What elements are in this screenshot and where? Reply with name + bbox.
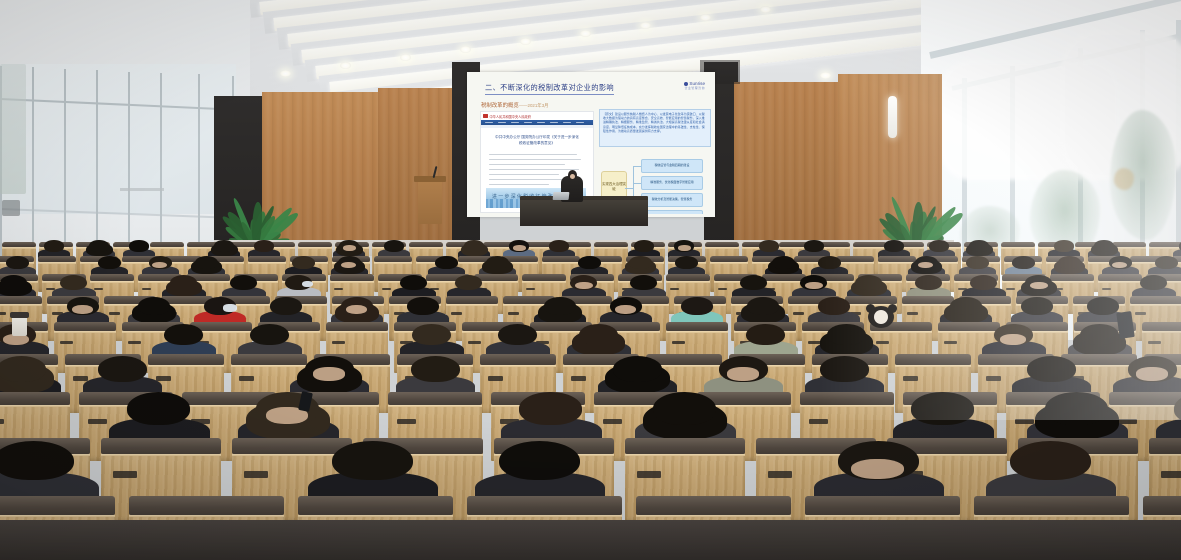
- logo-mark-icon: [684, 82, 688, 86]
- seat-number-tag: [468, 341, 480, 345]
- attendee-head: [0, 275, 27, 290]
- seat-number-tag: [768, 471, 792, 477]
- attendee-head: [435, 256, 458, 269]
- seat-number-tag: [670, 288, 679, 291]
- attendee-head: [1054, 240, 1074, 251]
- attendee-head: [634, 240, 654, 251]
- seat-number-tag: [88, 419, 107, 424]
- seat-cushion-top: [480, 354, 556, 365]
- seat-edge-highlight: [1050, 281, 1094, 283]
- attendee-neck: [1136, 367, 1168, 380]
- attendee-head: [675, 256, 698, 269]
- attendee-head: [578, 256, 601, 269]
- seat-number-tag: [0, 312, 6, 315]
- seat-cushion-top: [330, 274, 374, 281]
- logo-subtitle: 企业管理咨询: [684, 87, 705, 90]
- attendee-head: [549, 240, 569, 251]
- seat-edge-highlight: [666, 281, 710, 283]
- seat-number-tag: [488, 376, 503, 380]
- attendee-head: [855, 275, 882, 290]
- attendee-head: [164, 324, 204, 346]
- seat-number-tag: [603, 419, 622, 424]
- seat-cushion-top: [1149, 438, 1181, 454]
- seat-cushion-top: [90, 274, 134, 281]
- seat-edge-highlight: [480, 365, 556, 367]
- seat-number-tag: [382, 288, 391, 291]
- seat-number-tag: [156, 376, 171, 380]
- attendee-head: [950, 297, 982, 315]
- attendee-neck: [343, 245, 356, 251]
- seat-edge-highlight: [330, 281, 374, 283]
- attendee-head: [746, 324, 786, 346]
- attendee-neck: [615, 305, 636, 314]
- attendee-head: [0, 356, 46, 382]
- seat-edge-highlight: [1098, 281, 1142, 283]
- seat-number-tag: [1015, 419, 1034, 424]
- seat-cushion-top: [974, 496, 1129, 515]
- coffee-cup-lid: [10, 312, 29, 318]
- outdoor-foliage-through-glass: [0, 64, 26, 194]
- attendee-head: [653, 392, 715, 425]
- doc-body-line-6: [489, 184, 549, 185]
- seat-cushion-top: [845, 296, 897, 304]
- seat-number-tag: [109, 312, 119, 315]
- attendee-head: [498, 324, 538, 346]
- attendee-head: [0, 441, 74, 481]
- presenter-face: [570, 174, 575, 179]
- seat-cushion-top: [800, 392, 894, 405]
- attendee-head: [966, 256, 989, 269]
- seat-edge-highlight: [1149, 247, 1181, 249]
- attendee-neck: [313, 367, 345, 380]
- mindmap-node-1: 精准服务、优化税面数字智能应用: [641, 176, 703, 190]
- seat-number-tag: [718, 288, 727, 291]
- seat-cushion-top: [0, 296, 42, 304]
- seat-edge-highlight: [467, 515, 622, 517]
- attendee-head: [384, 240, 404, 251]
- ceiling-downlight-8: [760, 6, 771, 13]
- slide-subtitle-text: 税制改革的概览: [481, 103, 519, 109]
- seat-edge-highlight: [870, 331, 932, 333]
- lobby-furniture: [2, 200, 20, 216]
- attendee-head: [915, 275, 942, 290]
- auditorium-photo: 二、不断深化的税制改革对企业的影响 税制改革的概览——2021年3月 Sunri…: [0, 0, 1181, 560]
- seat-number-tag: [334, 288, 343, 291]
- attendee-neck: [1000, 334, 1026, 345]
- attendee-face-mask: [302, 281, 313, 288]
- seat-number-tag: [907, 312, 917, 315]
- seat-number-tag: [332, 341, 344, 345]
- seat-edge-highlight: [0, 515, 115, 517]
- attendee-neck: [346, 305, 367, 314]
- attendee-head: [681, 297, 713, 315]
- attendee-head: [127, 392, 189, 425]
- attendee-head: [332, 441, 413, 481]
- seat-edge-highlight: [522, 281, 566, 283]
- seat-number-tag: [397, 419, 416, 424]
- gov-doc-headline-l1: 中共中央办公厅 国务院办公厅印发《关于进一步深化: [495, 135, 579, 139]
- coffee-cup: [12, 316, 27, 336]
- seat-edge-highlight: [895, 365, 971, 367]
- attendee-head: [1012, 256, 1035, 269]
- wall-sconce-light: [888, 96, 897, 138]
- seat-cushion-top: [298, 496, 453, 515]
- seat-cushion-top: [326, 322, 388, 331]
- attendee-head: [129, 240, 149, 251]
- seat-edge-highlight: [38, 262, 76, 264]
- mindmap-node-2: 税收分析及智能决策，智慧税务: [641, 193, 703, 207]
- seat-number-tag: [793, 312, 803, 315]
- slide-logo: Sunrise 企业管理咨询: [684, 81, 705, 90]
- seat-cushion-top: [231, 354, 307, 365]
- seat-edge-highlight: [129, 515, 284, 517]
- seat-number-tag: [944, 341, 956, 345]
- attendee-head: [1155, 256, 1178, 269]
- lobby-counter: [120, 188, 164, 191]
- seat-number-tag: [142, 288, 151, 291]
- seat-number-tag: [808, 341, 820, 345]
- podium: [520, 196, 648, 226]
- slide-content: 二、不断深化的税制改革对企业的影响 税制改革的概览——2021年3月 Sunri…: [471, 75, 711, 214]
- attendee-neck: [72, 305, 93, 314]
- seat-number-tag: [451, 312, 461, 315]
- slide-callout-box: 【原文】建设以服务纳税人缴费人为中心、以发票电子化改革为突破口、以税收大数据为驱…: [599, 109, 711, 147]
- attendee-head: [544, 297, 576, 315]
- seat-cushion-top: [129, 496, 284, 515]
- gov-emblem-icon: [483, 114, 488, 118]
- attendee-head: [214, 240, 234, 251]
- seat-edge-highlight: [878, 262, 916, 264]
- seat-edge-highlight: [853, 247, 887, 249]
- seat-cushion-top: [1050, 274, 1094, 281]
- seat-edge-highlight: [101, 454, 221, 456]
- ceiling-downlight-15: [340, 62, 351, 69]
- doc-body-line-4: [489, 174, 559, 175]
- attendee-head: [1087, 297, 1119, 315]
- seat-edge-highlight: [409, 247, 443, 249]
- seat-edge-highlight: [148, 365, 224, 367]
- seat-edge-highlight: [298, 247, 332, 249]
- seat-edge-highlight: [800, 405, 894, 407]
- attendee-head: [195, 256, 218, 269]
- seat-edge-highlight: [1001, 247, 1035, 249]
- seat-edge-highlight: [150, 247, 184, 249]
- attendee-head: [929, 240, 949, 251]
- attendee-head: [969, 240, 989, 251]
- attendee-head: [1027, 356, 1076, 382]
- lectern: [418, 180, 442, 224]
- attendee-head: [411, 356, 460, 382]
- seat-number-tag: [73, 376, 88, 380]
- seat-cushion-top: [895, 354, 971, 365]
- attendee-head: [1058, 256, 1081, 269]
- seat-edge-highlight: [762, 281, 806, 283]
- seat-cushion-top: [762, 274, 806, 281]
- seat-edge-highlight: [2, 247, 36, 249]
- panda-plush-ear-right: [888, 304, 897, 313]
- attendee-head: [747, 297, 779, 315]
- mindmap-node-0: 税收征管与金税四期的建设: [641, 159, 703, 173]
- wood-panel-right-inner: [734, 82, 842, 254]
- attendee-head: [630, 275, 657, 290]
- gov-breadcrumb-strip: [481, 125, 593, 128]
- seat-number-tag: [1161, 471, 1181, 477]
- ceiling-downlight-16: [280, 70, 291, 77]
- seat-edge-highlight: [90, 281, 134, 283]
- seat-cushion-top: [1109, 392, 1181, 405]
- seat-edge-highlight: [594, 247, 628, 249]
- seat-cushion-top: [1143, 496, 1181, 515]
- seat-cushion-top: [54, 322, 116, 331]
- attendee-head: [804, 240, 824, 251]
- attendee-head: [89, 240, 109, 251]
- seat-number-tag: [1148, 341, 1160, 345]
- seat-edge-highlight: [374, 262, 412, 264]
- presenter-laptop: [553, 192, 570, 200]
- seat-edge-highlight: [1109, 405, 1181, 407]
- seat-edge-highlight: [298, 515, 453, 517]
- seat-number-tag: [571, 376, 586, 380]
- seat-cushion-top: [388, 392, 482, 405]
- attendee-head: [629, 256, 652, 269]
- seat-number-tag: [672, 341, 684, 345]
- seat-edge-highlight: [388, 405, 482, 407]
- panda-plush-face: [874, 310, 888, 324]
- attendee-head: [400, 275, 427, 290]
- seat-edge-highlight: [542, 262, 580, 264]
- ceiling-downlight-14: [400, 54, 411, 61]
- seat-number-tag: [94, 288, 103, 291]
- seat-edge-highlight: [666, 331, 728, 333]
- attendee-head: [250, 324, 290, 346]
- attendee-head: [911, 392, 973, 425]
- gov-site-label: 中华人民共和国中央人民政府: [483, 114, 531, 119]
- attendee-head: [818, 297, 850, 315]
- attendee-head: [579, 324, 619, 346]
- attendee-head: [270, 297, 302, 315]
- seat-number-tag: [526, 288, 535, 291]
- attendee-head: [98, 356, 147, 382]
- seat-number-tag: [1135, 312, 1145, 315]
- attendee-head: [827, 324, 867, 346]
- attendee-head: [1094, 240, 1114, 251]
- seat-edge-highlight: [1130, 304, 1181, 306]
- lectern-top: [414, 176, 446, 182]
- attendee-head: [772, 256, 795, 269]
- attendee-head: [254, 240, 274, 251]
- seat-number-tag: [239, 376, 254, 380]
- seat-cushion-top: [666, 274, 710, 281]
- ceiling-downlight-13: [460, 46, 471, 53]
- ceiling-downlight-10: [640, 22, 651, 29]
- attendee-neck: [727, 367, 759, 380]
- ceiling-downlight-20: [820, 72, 831, 79]
- seat-edge-highlight: [1143, 515, 1181, 517]
- seat-number-tag: [128, 341, 140, 345]
- seat-number-tag: [60, 341, 72, 345]
- attendee-head: [884, 240, 904, 251]
- ceiling-downlight-11: [580, 30, 591, 37]
- seat-edge-highlight: [805, 515, 960, 517]
- attendee-head: [1010, 441, 1091, 481]
- seat-edge-highlight: [710, 262, 748, 264]
- seat-edge-highlight: [902, 304, 954, 306]
- attendee-head: [407, 297, 439, 315]
- seat-cushion-top: [902, 296, 954, 304]
- seat-number-tag: [876, 341, 888, 345]
- seat-number-tag: [244, 471, 268, 477]
- seat-number-tag: [903, 376, 918, 380]
- seat-cushion-top: [232, 438, 352, 454]
- attendee-neck: [513, 245, 526, 251]
- seat-cushion-top: [0, 392, 70, 405]
- doc-body-line-0: [489, 154, 577, 155]
- seat-edge-highlight: [54, 331, 116, 333]
- seat-cushion-top: [522, 274, 566, 281]
- seat-cushion-top: [636, 496, 791, 515]
- attendee-head: [230, 275, 257, 290]
- attendee-head: [1021, 297, 1053, 315]
- attendee-head: [170, 275, 197, 290]
- attendee-head: [1140, 275, 1167, 290]
- attendee-head: [98, 256, 121, 269]
- attendee-head: [292, 256, 315, 269]
- seat-edge-highlight: [625, 454, 745, 456]
- doc-body-line-3: [489, 169, 579, 170]
- attendee-head: [499, 441, 580, 481]
- seat-cushion-top: [1130, 296, 1181, 304]
- panda-plush-ear-left: [866, 304, 875, 313]
- seat-edge-highlight: [446, 304, 498, 306]
- seat-cushion-top: [625, 438, 745, 454]
- attendee-head: [818, 256, 841, 269]
- gov-doc-headline-l2: 税收征管改革的意见》: [519, 141, 555, 145]
- mindmap-center-link: [625, 188, 634, 189]
- seat-edge-highlight: [938, 331, 1000, 333]
- attendee-head: [519, 392, 581, 425]
- seat-cushion-top: [0, 496, 115, 515]
- seat-number-tag: [809, 419, 828, 424]
- seat-number-tag: [1102, 288, 1111, 291]
- attendee-head: [464, 240, 484, 251]
- seat-number-tag: [986, 376, 1001, 380]
- seat-cushion-top: [446, 296, 498, 304]
- gov-site-text: 中华人民共和国中央人民政府: [490, 115, 531, 119]
- attendee-face-mask: [223, 304, 237, 312]
- seat-edge-highlight: [636, 515, 791, 517]
- attendee-head: [1080, 324, 1120, 346]
- seat-edge-highlight: [0, 304, 42, 306]
- slide-title: 二、不断深化的税制改革对企业的影响: [485, 83, 614, 95]
- seat-cushion-top: [148, 354, 224, 365]
- attendee-head: [60, 275, 87, 290]
- seat-cushion-top: [101, 438, 221, 454]
- attendee-head: [759, 240, 779, 251]
- attendee-head: [486, 256, 509, 269]
- seat-edge-highlight: [836, 262, 874, 264]
- floor: [0, 520, 1181, 560]
- attendee-head: [740, 275, 767, 290]
- seat-edge-highlight: [1142, 331, 1181, 333]
- attendee-head: [455, 275, 482, 290]
- seat-edge-highlight: [1149, 454, 1181, 456]
- seat-edge-highlight: [326, 331, 388, 333]
- seat-number-tag: [113, 471, 137, 477]
- attendee-neck: [678, 245, 691, 251]
- slide-subtitle: 税制改革的概览——2021年3月: [481, 101, 549, 109]
- seat-number-tag: [637, 471, 661, 477]
- seat-edge-highlight: [0, 405, 70, 407]
- ceiling-downlight-9: [700, 14, 711, 21]
- doc-body-line-2: [489, 164, 565, 165]
- seat-edge-highlight: [248, 262, 286, 264]
- seat-cushion-top: [1142, 322, 1181, 331]
- seat-cushion-top: [666, 322, 728, 331]
- attendee-head: [6, 256, 29, 269]
- attendee-head: [1045, 392, 1107, 425]
- podium-front-panel: [520, 200, 648, 226]
- mindmap-node-3: 税收信息归集与推进执法林和方面建设: [641, 210, 703, 214]
- seat-cushion-top: [1098, 274, 1142, 281]
- seat-edge-highlight: [974, 515, 1129, 517]
- slide-subtitle-date: ——2021年3月: [519, 103, 549, 108]
- seat-edge-highlight: [705, 247, 739, 249]
- seat-edge-highlight: [231, 365, 307, 367]
- seat-number-tag: [1006, 288, 1015, 291]
- attendee-head: [820, 356, 869, 382]
- seat-cushion-top: [805, 496, 960, 515]
- ceiling-downlight-12: [520, 38, 531, 45]
- seat-cushion-top: [467, 496, 622, 515]
- gov-doc-headline: 中共中央办公厅 国务院办公厅印发《关于进一步深化 税收征管改革的意见》: [489, 134, 585, 146]
- slide-callout-text: 【原文】建设以服务纳税人缴费人为中心、以发票电子化改革为突破口、以税收大数据为驱…: [603, 112, 707, 133]
- attendee-head: [44, 240, 64, 251]
- attendee-neck: [851, 459, 904, 479]
- attendee-head: [970, 275, 997, 290]
- seat-number-tag: [508, 312, 518, 315]
- tree-autumn-patch: [1114, 168, 1134, 190]
- doc-body-line-1: [489, 159, 581, 160]
- attendee-head: [613, 356, 662, 382]
- attendee-head: [138, 297, 170, 315]
- attendee-head: [412, 324, 452, 346]
- seat-number-tag: [0, 419, 4, 424]
- seat-cushion-top: [938, 322, 1000, 331]
